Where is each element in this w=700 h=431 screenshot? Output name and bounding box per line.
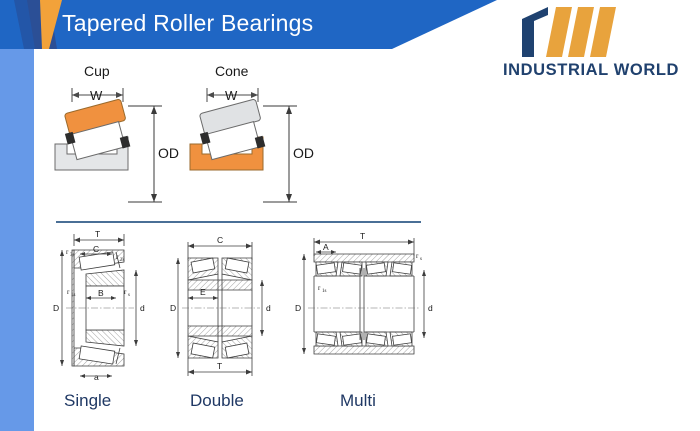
svg-text:T: T	[360, 231, 365, 241]
svg-text:2s: 2s	[120, 258, 125, 263]
logo: INDUSTRIAL WORLD	[487, 5, 695, 83]
logo-mark-iw-icon	[518, 5, 628, 57]
svg-text:r: r	[318, 284, 321, 292]
svg-text:D: D	[53, 303, 59, 313]
section-divider	[56, 221, 421, 223]
caption-single: Single	[64, 391, 111, 411]
svg-text:s: s	[420, 257, 422, 262]
diagram-cup: Cup W	[50, 60, 200, 210]
diagram-double: C E D	[170, 235, 271, 376]
svg-text:d: d	[428, 303, 433, 313]
diagram-cone-title: Cone	[215, 63, 248, 79]
svg-text:d: d	[140, 303, 145, 313]
top-diagram-group: Cup W	[50, 60, 350, 210]
diagram-cone: Cone W	[185, 60, 335, 210]
page-title: Tapered Roller Bearings	[62, 10, 313, 37]
logo-text: INDUSTRIAL WORLD	[487, 61, 695, 80]
diagram-cup-title: Cup	[84, 63, 110, 79]
left-edge-strip	[0, 49, 34, 431]
svg-text:T: T	[217, 361, 222, 371]
svg-text:r: r	[67, 288, 70, 296]
svg-text:r: r	[416, 252, 419, 260]
svg-text:r: r	[66, 248, 69, 256]
svg-text:A: A	[323, 242, 329, 252]
diagram-cup-width-label: W	[90, 88, 103, 103]
caption-multi: Multi	[340, 391, 376, 411]
svg-text:D: D	[170, 303, 176, 313]
svg-text:C: C	[217, 235, 223, 245]
svg-text:T: T	[95, 229, 100, 239]
svg-text:1s: 1s	[322, 289, 327, 294]
slide-canvas: Tapered Roller Bearings INDUSTRIAL WORLD…	[0, 0, 700, 431]
diagram-cone-width-label: W	[225, 88, 238, 103]
svg-text:a: a	[94, 372, 99, 382]
svg-text:1s: 1s	[71, 293, 76, 298]
bottom-diagram-group: T C B	[50, 228, 450, 418]
svg-text:C: C	[93, 244, 99, 254]
diagram-cone-od-label: OD	[293, 145, 314, 161]
diagram-single: T C B	[53, 229, 145, 382]
svg-text:D: D	[295, 303, 301, 313]
caption-double: Double	[190, 391, 244, 411]
svg-text:B: B	[98, 288, 104, 298]
svg-text:s: s	[128, 293, 130, 298]
svg-text:3s: 3s	[70, 253, 75, 258]
svg-text:E: E	[200, 287, 206, 297]
svg-text:r: r	[124, 288, 127, 296]
diagram-multi: T A D	[295, 231, 433, 354]
svg-text:d: d	[266, 303, 271, 313]
diagram-cup-od-label: OD	[158, 145, 179, 161]
